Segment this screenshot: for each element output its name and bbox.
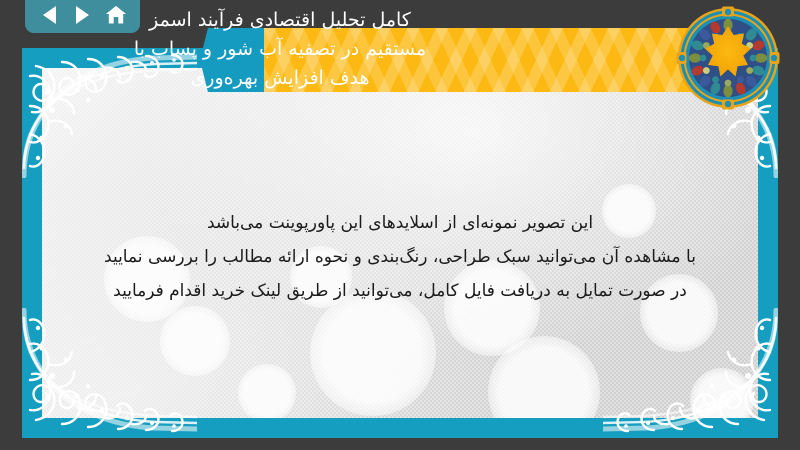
- body-line: با مشاهده آن می‌توانید سبک طراحی، رنگ‌بن…: [82, 240, 718, 274]
- next-slide-button[interactable]: [71, 3, 95, 27]
- persian-medallion-ornament: [676, 6, 780, 110]
- slide-content-area: این تصویر نمونه‌ای از اسلایدهای این پاور…: [42, 68, 758, 418]
- previous-slide-button[interactable]: [38, 3, 62, 27]
- bokeh-circle: [310, 290, 436, 416]
- home-button[interactable]: [104, 3, 128, 27]
- ribbon-chevron-pattern: [264, 28, 720, 92]
- presentation-slide: این تصویر نمونه‌ای از اسلایدهای این پاور…: [22, 48, 778, 438]
- bokeh-circle: [238, 364, 296, 418]
- triangle-right-icon: [76, 6, 89, 24]
- triangle-left-icon: [43, 6, 56, 24]
- body-line: این تصویر نمونه‌ای از اسلایدهای این پاور…: [82, 206, 718, 240]
- home-icon: [105, 5, 127, 25]
- slide-navigation-bar: [25, 0, 140, 33]
- slide-body-text: این تصویر نمونه‌ای از اسلایدهای این پاور…: [82, 206, 718, 308]
- slide-title-banner: کامل تحلیل اقتصادی فرآیند اسمز مستقیم در…: [200, 28, 720, 92]
- bokeh-circle: [160, 306, 230, 376]
- banner-ribbon: [264, 28, 720, 92]
- banner-arrow-shape: [200, 28, 266, 92]
- body-line: در صورت تمایل به دریافت فایل کامل، می‌تو…: [82, 274, 718, 308]
- bokeh-circle: [488, 336, 600, 418]
- bokeh-circle: [690, 368, 754, 418]
